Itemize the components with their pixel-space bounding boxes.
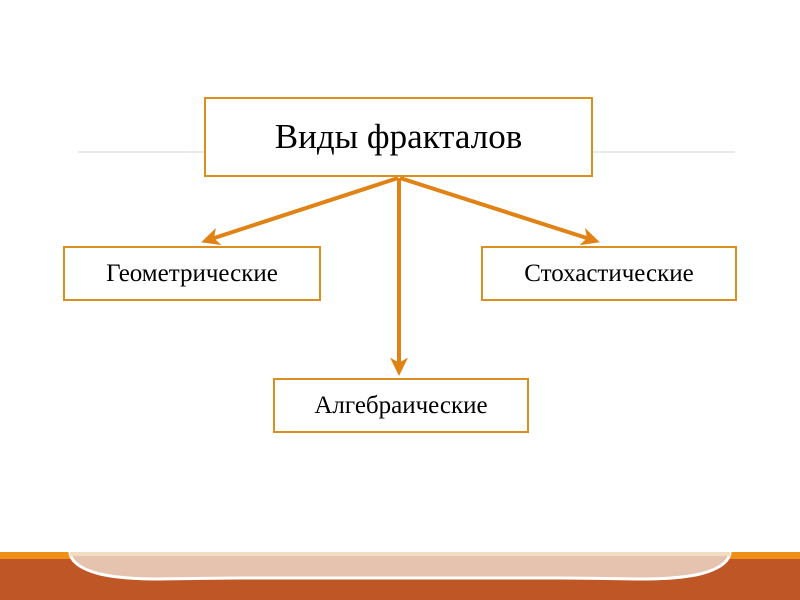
connector-to-geometric bbox=[205, 178, 398, 241]
node-algebraicheskie-label: Алгебраические bbox=[314, 392, 487, 420]
connector-to-stochastic bbox=[400, 178, 596, 241]
node-geometricheskie[interactable]: Геометрические bbox=[63, 246, 321, 301]
node-stohasticheskie-label: Стохастические bbox=[524, 260, 694, 288]
node-root-vidy-fraktalov[interactable]: Виды фракталов bbox=[204, 97, 593, 177]
footer-decoration bbox=[0, 552, 800, 600]
node-algebraicheskie[interactable]: Алгебраические bbox=[273, 378, 529, 433]
node-root-label: Виды фракталов bbox=[275, 118, 522, 157]
node-stohasticheskie[interactable]: Стохастические bbox=[481, 246, 737, 301]
node-geometricheskie-label: Геометрические bbox=[106, 260, 278, 288]
slide-canvas: Виды фракталов Геометрические Стохастиче… bbox=[0, 0, 800, 600]
footer-arc-shape bbox=[0, 552, 800, 600]
